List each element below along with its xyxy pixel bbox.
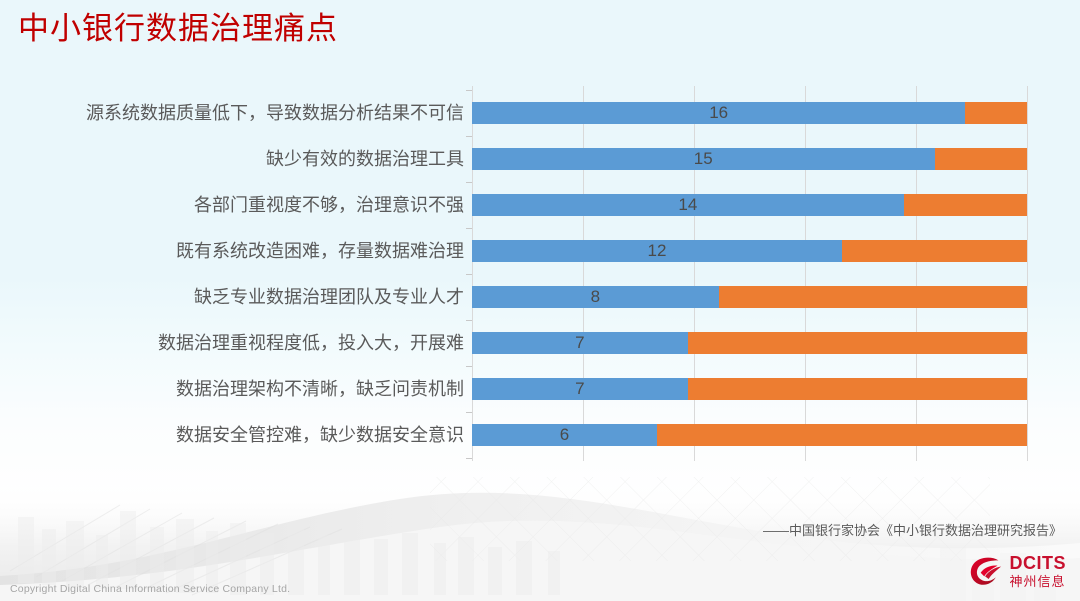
category-label: 各部门重视度不够，治理意识不强	[194, 182, 464, 228]
bar-segment-remainder	[657, 424, 1027, 446]
stacked-bar-chart: 源系统数据质量低下，导致数据分析结果不可信16缺少有效的数据治理工具15各部门重…	[0, 86, 1080, 461]
chart-row: 源系统数据质量低下，导致数据分析结果不可信16	[0, 90, 1080, 136]
stacked-bar: 8	[472, 286, 1027, 308]
bar-value-label: 16	[472, 102, 965, 124]
bar-value-label: 12	[472, 240, 842, 262]
category-label: 源系统数据质量低下，导致数据分析结果不可信	[86, 90, 464, 136]
axis-tick	[466, 412, 472, 413]
category-label: 既有系统改造困难，存量数据难治理	[176, 228, 464, 274]
bar-segment-remainder	[688, 332, 1027, 354]
category-label: 数据治理重视程度低，投入大，开展难	[158, 320, 464, 366]
copyright-text: Copyright Digital China Information Serv…	[10, 583, 290, 595]
logo-english-name: DCITS	[1010, 554, 1067, 572]
source-note: ——中国银行家协会《中小银行数据治理研究报告》	[763, 520, 1062, 539]
axis-tick	[466, 228, 472, 229]
stacked-bar: 7	[472, 378, 1027, 400]
axis-tick	[466, 182, 472, 183]
page-title: 中小银行数据治理痛点	[18, 6, 338, 52]
bar-segment-remainder	[719, 286, 1027, 308]
axis-tick	[466, 136, 472, 137]
bar-value-label: 7	[472, 378, 688, 400]
chart-row: 缺少有效的数据治理工具15	[0, 136, 1080, 182]
axis-tick	[466, 274, 472, 275]
chart-row: 数据安全管控难，缺少数据安全意识6	[0, 412, 1080, 458]
axis-tick	[466, 320, 472, 321]
bar-segment-remainder	[935, 148, 1028, 170]
bar-segment-remainder	[688, 378, 1027, 400]
stacked-bar: 7	[472, 332, 1027, 354]
axis-tick-end	[466, 458, 472, 459]
chart-row: 数据治理重视程度低，投入大，开展难7	[0, 320, 1080, 366]
logo-text: DCITS 神州信息	[1010, 554, 1067, 588]
axis-tick	[466, 90, 472, 91]
stacked-bar: 12	[472, 240, 1027, 262]
chart-row: 缺乏专业数据治理团队及专业人才8	[0, 274, 1080, 320]
bar-segment-remainder	[965, 102, 1027, 124]
chart-row: 各部门重视度不够，治理意识不强14	[0, 182, 1080, 228]
stacked-bar: 6	[472, 424, 1027, 446]
bar-segment-remainder	[842, 240, 1027, 262]
stacked-bar: 14	[472, 194, 1027, 216]
bar-value-label: 6	[472, 424, 657, 446]
bar-value-label: 8	[472, 286, 719, 308]
company-logo: DCITS 神州信息	[968, 553, 1067, 589]
bar-value-label: 15	[472, 148, 935, 170]
bar-segment-remainder	[904, 194, 1027, 216]
bar-value-label: 7	[472, 332, 688, 354]
logo-chinese-name: 神州信息	[1010, 575, 1067, 588]
chart-row: 数据治理架构不清晰，缺乏问责机制7	[0, 366, 1080, 412]
dcits-swoosh-icon	[968, 555, 1004, 587]
axis-tick	[466, 366, 472, 367]
category-label: 缺乏专业数据治理团队及专业人才	[194, 274, 464, 320]
category-label: 缺少有效的数据治理工具	[266, 136, 464, 182]
chart-row: 既有系统改造困难，存量数据难治理12	[0, 228, 1080, 274]
stacked-bar: 16	[472, 102, 1027, 124]
category-label: 数据安全管控难，缺少数据安全意识	[176, 412, 464, 458]
slide-canvas: 中小银行数据治理痛点 源系统数据质量低下，导致数据分析结果不可信16缺少有效的数…	[0, 0, 1080, 601]
category-label: 数据治理架构不清晰，缺乏问责机制	[176, 366, 464, 412]
stacked-bar: 15	[472, 148, 1027, 170]
bar-value-label: 14	[472, 194, 904, 216]
